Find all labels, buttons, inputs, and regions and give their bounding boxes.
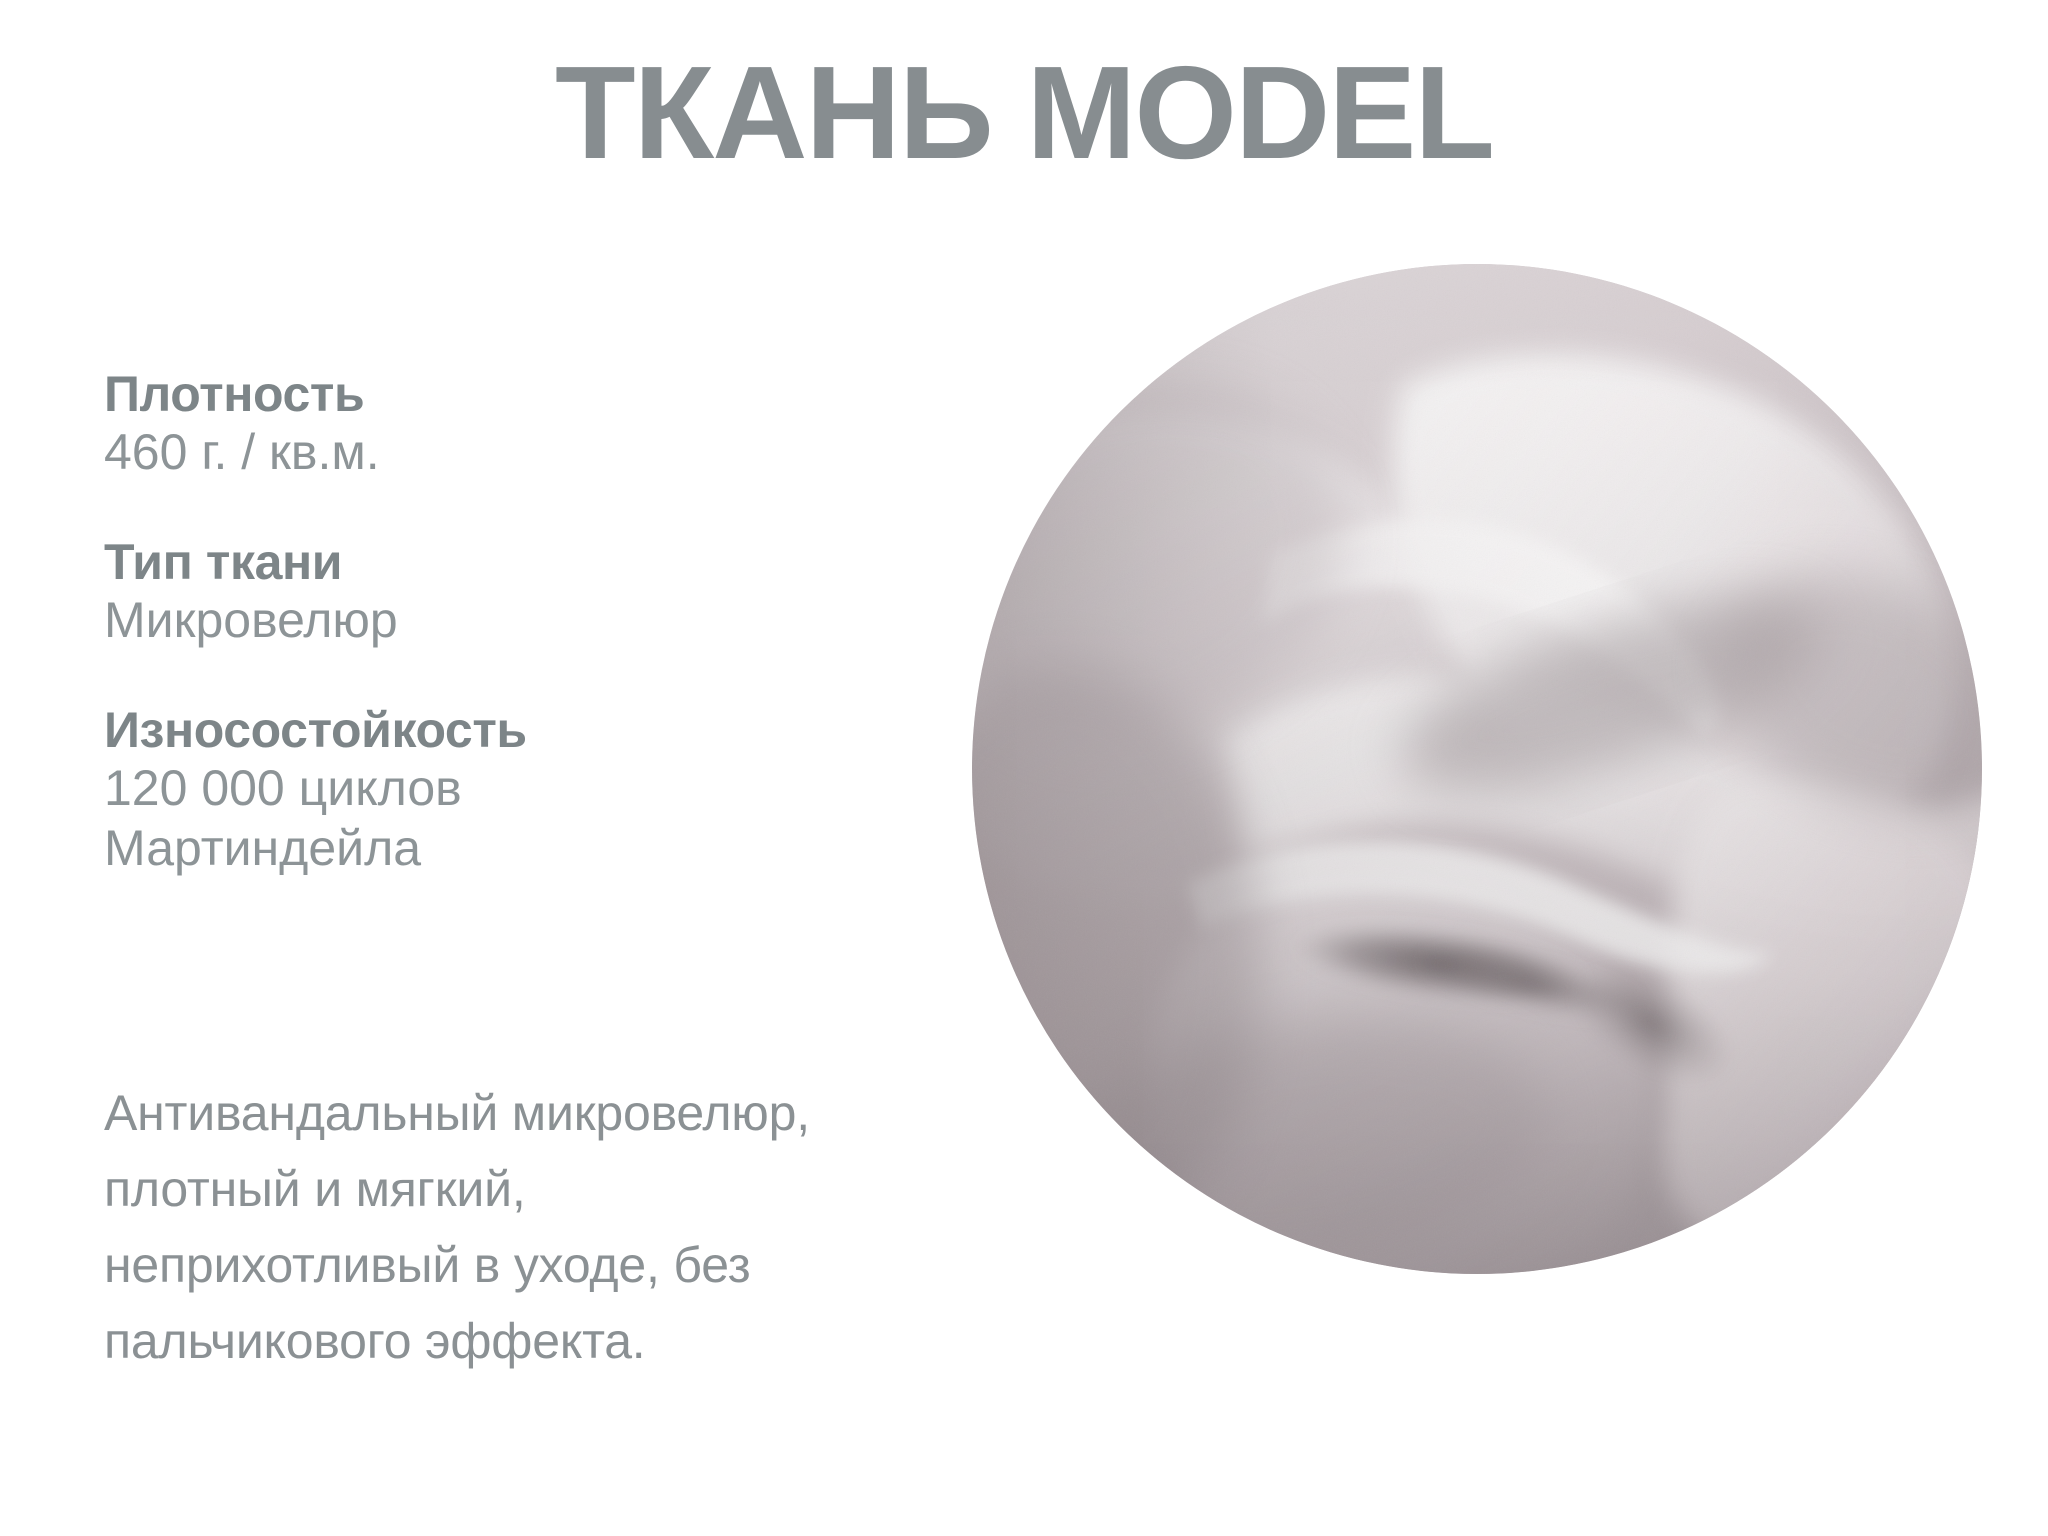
spec-list: Плотность 460 г. / кв.м. Тип ткани Микро… xyxy=(104,366,904,878)
spec-value-density: 460 г. / кв.м. xyxy=(104,422,904,482)
fabric-photo-illustration xyxy=(972,264,1982,1274)
spec-value-durability-cycles: 120 000 циклов xyxy=(104,758,904,818)
spec-value-fabric-type: Микровелюр xyxy=(104,590,904,650)
spec-label-fabric-type: Тип ткани xyxy=(104,534,904,590)
description-line-2: плотный и мягкий, xyxy=(104,1151,1024,1227)
spec-value-durability-method: Мартиндейла xyxy=(104,818,904,878)
spec-item-durability: Износостойкость 120 000 циклов Мартиндей… xyxy=(104,702,904,878)
spec-label-density: Плотность xyxy=(104,366,904,422)
fabric-photo-circle xyxy=(972,264,1982,1274)
page-title: ТКАНЬ MODEL xyxy=(0,44,2048,183)
spec-label-durability: Износостойкость xyxy=(104,702,904,758)
description-line-3: неприхотливый в уходе, без xyxy=(104,1227,1024,1303)
description-line-4: пальчикового эффекта. xyxy=(104,1303,1024,1379)
spec-item-fabric-type: Тип ткани Микровелюр xyxy=(104,534,904,650)
description-paragraph: Антивандальный микровелюр, плотный и мяг… xyxy=(104,1075,1024,1379)
spec-item-density: Плотность 460 г. / кв.м. xyxy=(104,366,904,482)
slide-root: ТКАНЬ MODEL Плотность 460 г. / кв.м. Тип… xyxy=(0,0,2048,1536)
description-line-1: Антивандальный микровелюр, xyxy=(104,1075,1024,1151)
